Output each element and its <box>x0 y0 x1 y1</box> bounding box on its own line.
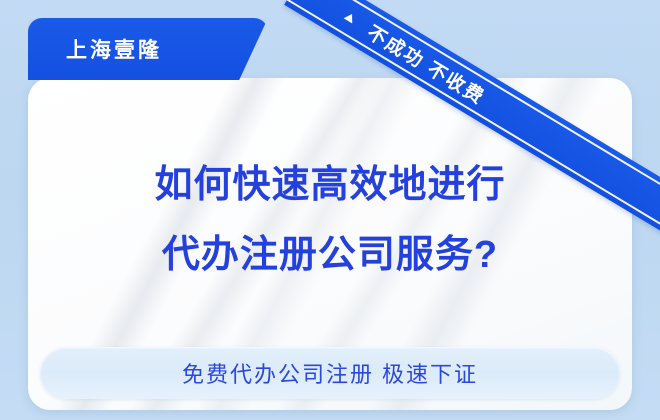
cta-banner-label: 免费代办公司注册 极速下证 <box>182 357 478 389</box>
brand-tag-label: 上海壹隆 <box>28 34 162 64</box>
page-title: 如何快速高效地进行 代办注册公司服务? <box>28 150 632 290</box>
headline-line-1: 如何快速高效地进行 <box>28 150 632 220</box>
promo-poster: 不成功 不收费 上海壹隆 如何快速高效地进行 代办注册公司服务? 免费代办公司注… <box>0 0 660 420</box>
cta-banner[interactable]: 免费代办公司注册 极速下证 <box>40 347 620 399</box>
brand-tag: 上海壹隆 <box>28 18 268 80</box>
headline-line-2: 代办注册公司服务? <box>28 220 632 290</box>
